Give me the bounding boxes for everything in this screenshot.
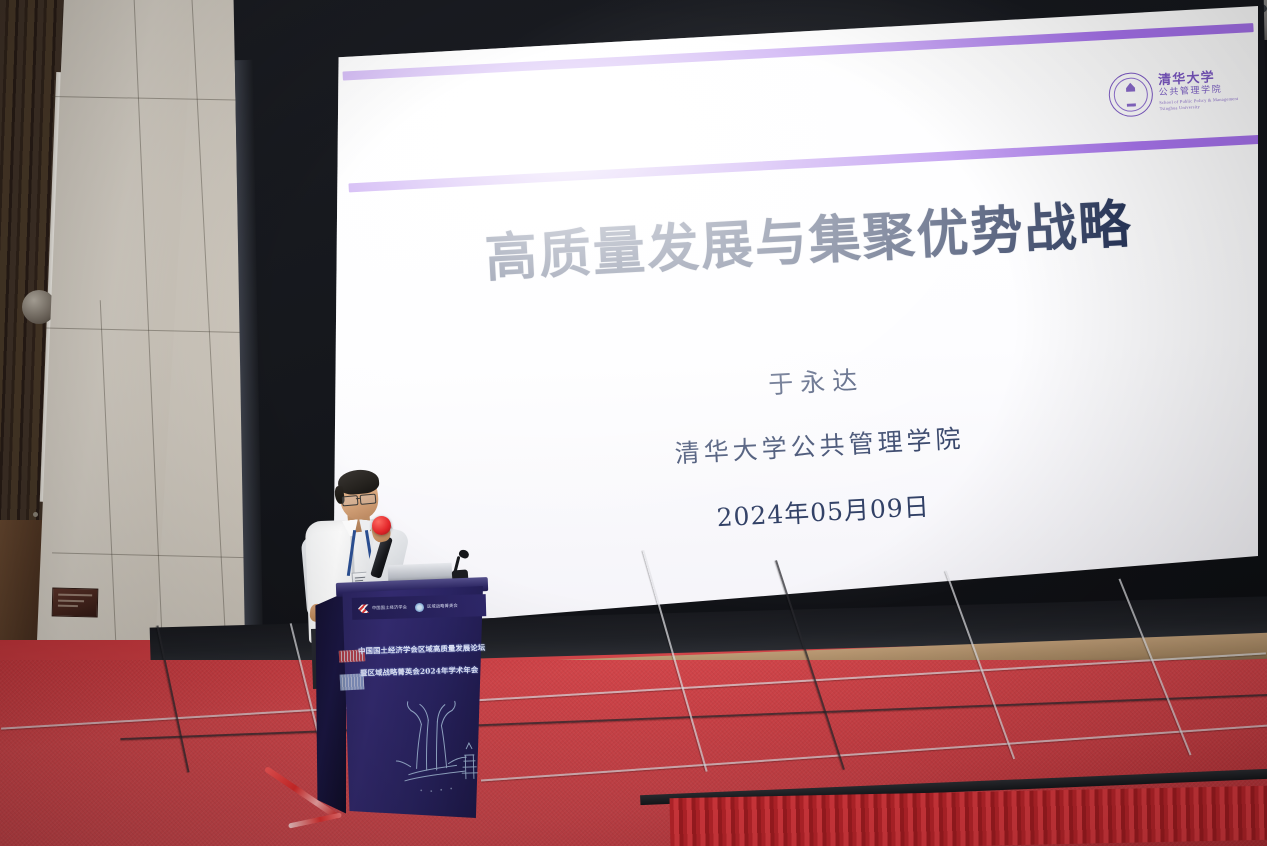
sponsor-flag-icon <box>358 604 369 613</box>
sponsor-label: 区域战略菁英会 <box>427 603 458 609</box>
wall-fitting <box>33 512 38 517</box>
sponsor-circle-icon <box>415 602 424 611</box>
eyeglasses-icon <box>341 493 378 505</box>
slide-date: 2024年05月09日 <box>360 468 1267 553</box>
podium-sponsor-bar: 中国国土经济学会 区域战略菁英会 <box>352 594 487 620</box>
conference-photo-scene: 清华大学 公共管理学院 School of Public Policy & Ma… <box>0 0 1267 846</box>
sponsor-label: 中国国土经济学会 <box>372 605 407 611</box>
slide-title: 高质量发展与集聚优势战略 <box>345 174 1267 298</box>
tsinghua-seal-icon <box>1108 72 1154 118</box>
seal-emblem-icon <box>1122 82 1139 107</box>
microphone-icon <box>372 516 391 535</box>
slide-content: 清华大学 公共管理学院 School of Public Policy & Ma… <box>333 0 1267 630</box>
podium-sponsor-item: 区域战略菁英会 <box>415 601 458 611</box>
podium-artwork-icon <box>385 693 484 800</box>
logo-text-block: 清华大学 公共管理学院 School of Public Policy & Ma… <box>1158 70 1239 111</box>
podium-sponsor-item: 中国国土经济学会 <box>358 603 407 613</box>
wall-plaque <box>52 587 99 617</box>
projected-slide: 清华大学 公共管理学院 School of Public Policy & Ma… <box>333 6 1258 631</box>
tsinghua-spm-logo: 清华大学 公共管理学院 School of Public Policy & Ma… <box>1107 57 1250 126</box>
